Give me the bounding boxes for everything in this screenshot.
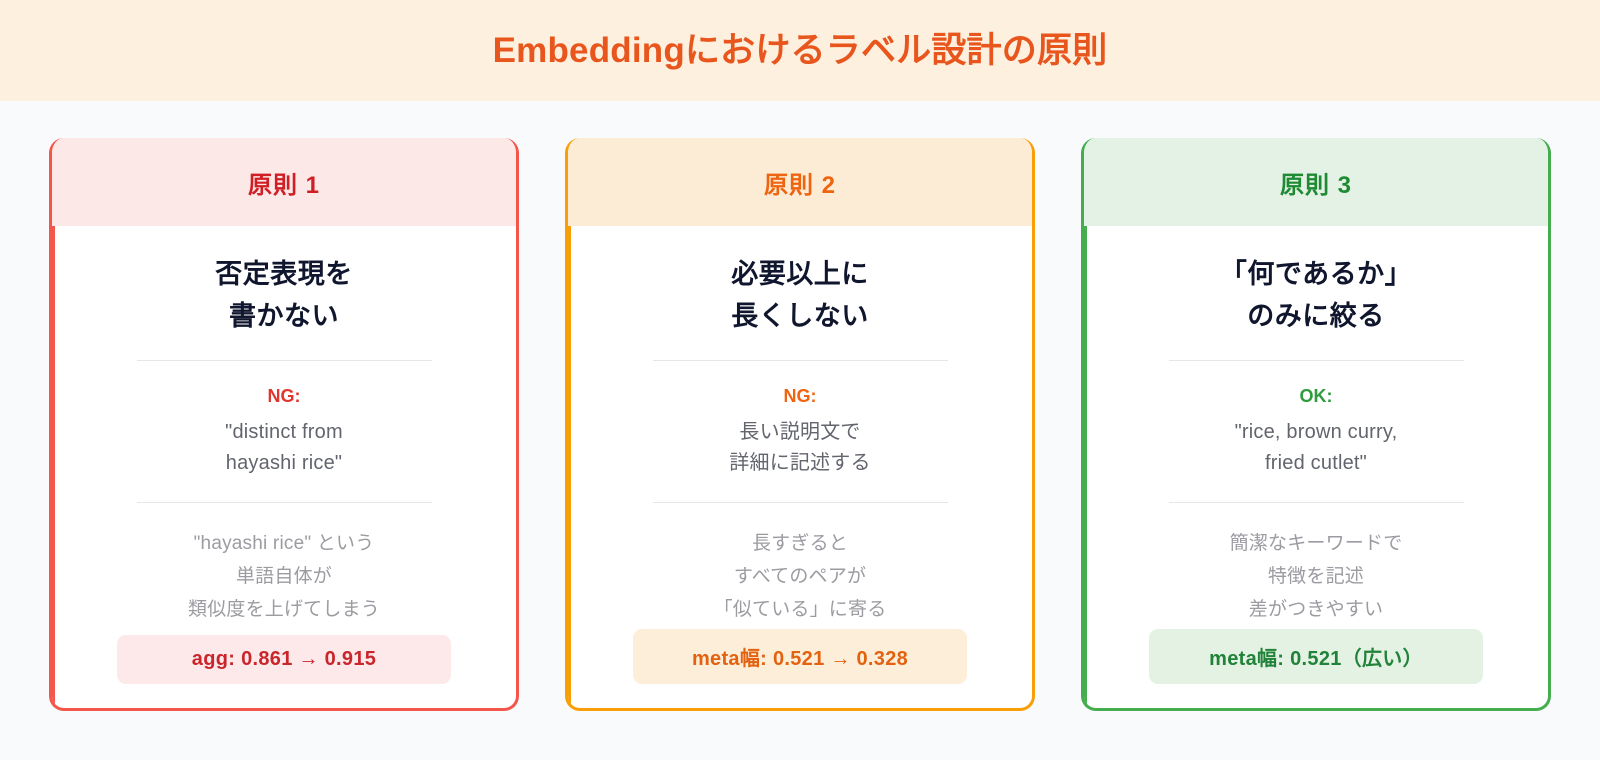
card-metric-badge-3: meta幅: 0.521（広い） — [1149, 629, 1483, 684]
card-divider-top-2 — [653, 360, 948, 361]
note-line2-1: 単語自体が — [92, 560, 476, 593]
note-line1-2: 長すぎると — [608, 527, 992, 560]
example-line1-3: "rice, brown curry, — [1124, 417, 1508, 449]
card-note-3: 簡潔なキーワードで 特徴を記述 差がつきやすい — [1124, 527, 1508, 626]
example-tag-2: NG: — [608, 383, 992, 410]
card-body-3: 「何であるか」 のみに絞る OK: "rice, brown curry, fr… — [1084, 226, 1548, 708]
principle-card-2: 原則 2 必要以上に 長くしない NG: 長い説明文で 詳細に記述する 長すぎる… — [565, 138, 1035, 711]
example-line1-1: "distinct from — [92, 417, 476, 449]
note-line3-2: 「似ている」に寄る — [608, 593, 992, 626]
note-line2-2: すべてのペアが — [608, 560, 992, 593]
card-body-1: 否定表現を 書かない NG: "distinct from hayashi ri… — [52, 226, 516, 708]
note-line3-1: 類似度を上げてしまう — [92, 593, 476, 626]
example-line2-1: hayashi rice" — [92, 448, 476, 480]
note-line3-3: 差がつきやすい — [1124, 593, 1508, 626]
principle-card-3: 原則 3 「何であるか」 のみに絞る OK: "rice, brown curr… — [1081, 138, 1551, 711]
example-tag-3: OK: — [1124, 383, 1508, 410]
card-badge-label-2: 原則 2 — [764, 165, 836, 200]
card-divider-bottom-3 — [1169, 502, 1464, 503]
card-note-2: 長すぎると すべてのペアが 「似ている」に寄る — [608, 527, 992, 626]
card-title-line2-2: 長くしない — [731, 296, 869, 338]
card-title-line1-2: 必要以上に — [731, 254, 869, 296]
card-title-line2-1: 書かない — [215, 296, 353, 338]
card-divider-bottom-1 — [137, 502, 432, 503]
card-title-3: 「何であるか」 のみに絞る — [1220, 254, 1412, 338]
example-line1-2: 長い説明文で — [608, 417, 992, 449]
example-text-1: "distinct from hayashi rice" — [92, 417, 476, 480]
card-divider-top-1 — [137, 360, 432, 361]
card-title-line1-3: 「何であるか」 — [1220, 254, 1412, 296]
principle-card-1: 原則 1 否定表現を 書かない NG: "distinct from hayas… — [49, 138, 519, 711]
example-line2-3: fried cutlet" — [1124, 448, 1508, 480]
card-header-1: 原則 1 — [52, 138, 516, 226]
card-header-3: 原則 3 — [1084, 138, 1548, 226]
note-line1-1: "hayashi rice" という — [92, 527, 476, 560]
principles-card-row: 原則 1 否定表現を 書かない NG: "distinct from hayas… — [0, 101, 1600, 760]
example-line2-2: 詳細に記述する — [608, 448, 992, 480]
note-line1-3: 簡潔なキーワードで — [1124, 527, 1508, 560]
card-title-line1-1: 否定表現を — [215, 254, 353, 296]
page-title: Embeddingにおけるラベル設計の原則 — [493, 33, 1108, 68]
card-divider-bottom-2 — [653, 502, 948, 503]
example-tag-1: NG: — [92, 383, 476, 410]
card-badge-label-1: 原則 1 — [248, 165, 320, 200]
card-body-2: 必要以上に 長くしない NG: 長い説明文で 詳細に記述する 長すぎると すべて… — [568, 226, 1032, 708]
card-title-line2-3: のみに絞る — [1220, 296, 1412, 338]
card-example-3: OK: "rice, brown curry, fried cutlet" — [1124, 383, 1508, 480]
card-note-1: "hayashi rice" という 単語自体が 類似度を上げてしまう — [92, 527, 476, 626]
card-metric-badge-2: meta幅: 0.521 → 0.328 — [633, 629, 967, 684]
card-metric-badge-1: agg: 0.861 → 0.915 — [117, 635, 451, 684]
card-divider-top-3 — [1169, 360, 1464, 361]
example-text-2: 長い説明文で 詳細に記述する — [608, 417, 992, 480]
card-title-2: 必要以上に 長くしない — [731, 254, 869, 338]
note-line2-3: 特徴を記述 — [1124, 560, 1508, 593]
card-example-1: NG: "distinct from hayashi rice" — [92, 383, 476, 480]
card-title-1: 否定表現を 書かない — [215, 254, 353, 338]
card-example-2: NG: 長い説明文で 詳細に記述する — [608, 383, 992, 480]
title-band: Embeddingにおけるラベル設計の原則 — [0, 0, 1600, 101]
card-header-2: 原則 2 — [568, 138, 1032, 226]
card-badge-label-3: 原則 3 — [1280, 165, 1352, 200]
example-text-3: "rice, brown curry, fried cutlet" — [1124, 417, 1508, 480]
